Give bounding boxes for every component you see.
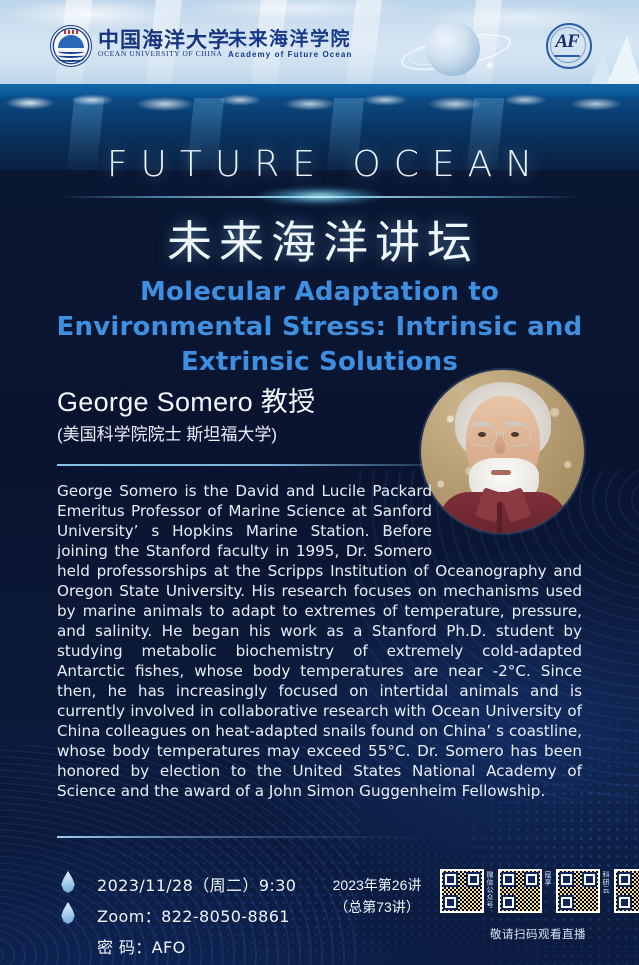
qr-code-item[interactable]: 寇享 bbox=[498, 869, 552, 927]
qr-label: 寇享 bbox=[543, 869, 552, 886]
lecture-title: Molecular Adaptation to Environmental St… bbox=[30, 275, 609, 380]
scan-note: 敬请扫码观看直播 bbox=[440, 926, 636, 942]
qr-code-item[interactable]: YouTube bbox=[614, 869, 639, 927]
lecture-poster: 中国海洋大学 OCEAN UNIVERSITY OF CHINA 未来海洋学院 … bbox=[0, 0, 639, 965]
qr-code-keyanyun[interactable] bbox=[556, 869, 600, 913]
event-datetime: 2023/11/28（周二）9:30 bbox=[97, 872, 296, 896]
university-name-en: OCEAN UNIVERSITY OF CHINA bbox=[98, 49, 223, 58]
header-logos: 中国海洋大学 OCEAN UNIVERSITY OF CHINA 未来海洋学院 … bbox=[0, 0, 639, 90]
speaker-bio-container: George Somero is the David and Lucile Pa… bbox=[57, 481, 582, 801]
af-logo-icon: AF bbox=[545, 22, 591, 68]
session-number-line2: （总第73讲） bbox=[322, 896, 432, 918]
qr-code-row: 微信公众号 寇享 科研云 YouTube bbox=[440, 869, 636, 927]
glow-highlight bbox=[255, 187, 385, 205]
zoom-password: 密 码：AFO bbox=[97, 934, 186, 958]
qr-code-wechat[interactable] bbox=[440, 869, 484, 913]
qr-label: 科研云 bbox=[601, 869, 610, 894]
session-number: 2023年第26讲 （总第73讲） bbox=[322, 874, 432, 918]
qr-code-item[interactable]: 科研云 bbox=[556, 869, 610, 927]
qr-code-kouxiang[interactable] bbox=[498, 869, 542, 913]
academy-name-en: Academy of Future Ocean bbox=[228, 50, 352, 59]
qr-code-item[interactable]: 微信公众号 bbox=[440, 869, 494, 927]
portrait-text-wrap bbox=[432, 481, 582, 556]
footer-divider bbox=[57, 836, 587, 838]
academy-name-cn: 未来海洋学院 bbox=[228, 24, 351, 51]
qr-label: 微信公众号 bbox=[485, 869, 494, 909]
brand-title-en: FUTURE OCEAN bbox=[0, 144, 639, 185]
wave-foam bbox=[0, 93, 639, 119]
ouc-emblem-icon bbox=[50, 25, 92, 67]
zoom-meeting-id: Zoom：822-8050-8861 bbox=[97, 903, 290, 927]
speaker-affiliation: (美国科学院院士 斯坦福大学) bbox=[57, 420, 277, 445]
session-number-line1: 2023年第26讲 bbox=[322, 874, 432, 896]
qr-code-youtube[interactable] bbox=[614, 869, 639, 913]
speaker-name: George Somero 教授 bbox=[57, 380, 315, 419]
brand-title-cn: 未来海洋讲坛 bbox=[0, 206, 639, 271]
af-logo-text: AF bbox=[545, 31, 589, 53]
speaker-divider bbox=[57, 464, 442, 466]
